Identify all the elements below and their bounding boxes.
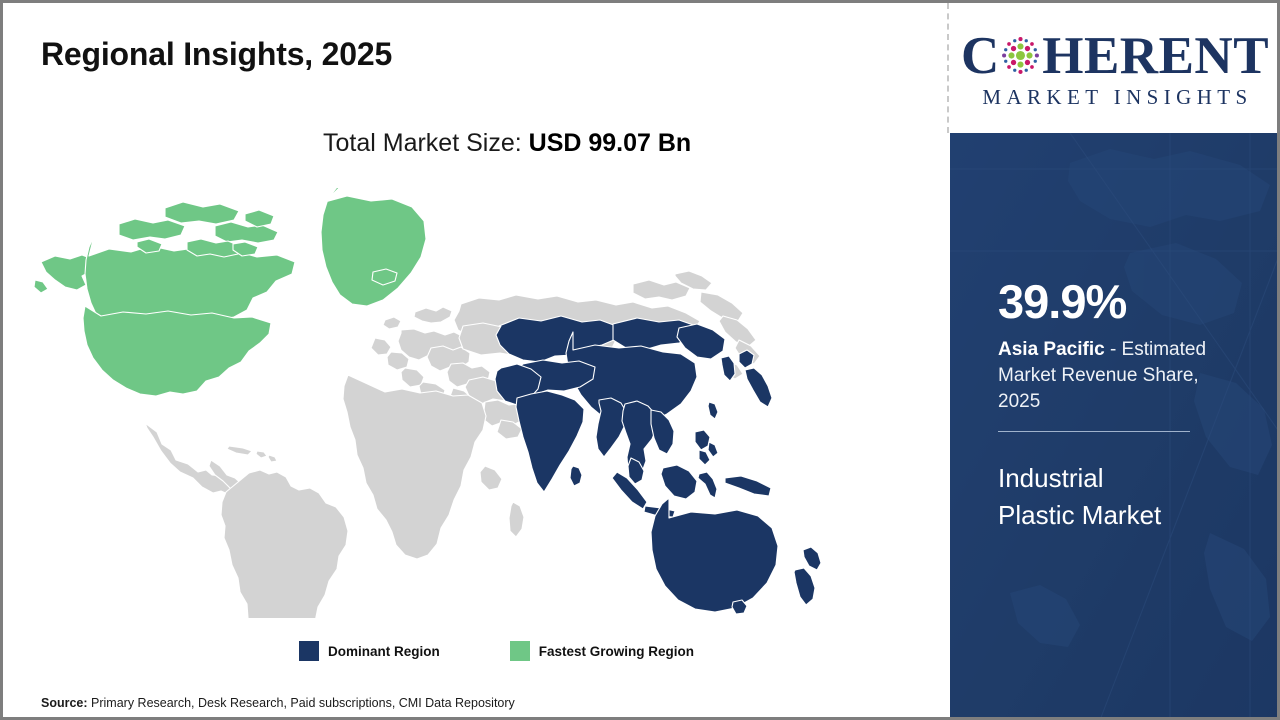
legend-item-fastest-growing: Fastest Growing Region: [510, 641, 694, 661]
total-market-size-value: USD 99.07 Bn: [529, 129, 692, 157]
logo-word-herent: HERENT: [1042, 30, 1269, 83]
source-label: Source:: [41, 696, 88, 710]
legend-label-fastest-growing: Fastest Growing Region: [539, 644, 694, 659]
legend-swatch-fastest-growing: [510, 641, 530, 661]
legend-item-dominant: Dominant Region: [299, 641, 440, 661]
stat-description: Asia Pacific - Estimated Market Revenue …: [998, 337, 1230, 416]
stat-percent: 39.9%: [998, 278, 1260, 325]
logo-wordmark: C: [961, 30, 1269, 83]
map-legend: Dominant Region Fastest Growing Region: [299, 641, 694, 661]
stat-region: Asia Pacific: [998, 339, 1105, 360]
map-region-fastest-growing: [34, 188, 426, 396]
logo-tagline: MARKET INSIGHTS: [977, 85, 1252, 110]
brand-logo: C: [950, 6, 1280, 133]
total-market-size-label: Total Market Size:: [323, 129, 529, 157]
world-map: [33, 188, 843, 618]
market-name: Industrial Plastic Market: [998, 460, 1260, 534]
world-map-svg: [33, 188, 843, 618]
panel-divider: [947, 3, 949, 133]
source-note: Source: Primary Research, Desk Research,…: [41, 696, 515, 710]
total-market-size: Total Market Size: USD 99.07 Bn: [323, 129, 691, 158]
legend-swatch-dominant: [299, 641, 319, 661]
logo-letter-c: C: [961, 30, 999, 83]
map-panel: Regional Insights, 2025 Total Market Siz…: [3, 3, 948, 717]
source-text: Primary Research, Desk Research, Paid su…: [88, 696, 515, 710]
legend-label-dominant: Dominant Region: [328, 644, 440, 659]
slide-root: Regional Insights, 2025 Total Market Siz…: [0, 0, 1280, 720]
sidebar-divider-rule: [998, 431, 1190, 432]
map-region-dominant: [495, 316, 821, 614]
sidebar-content: 39.9% Asia Pacific - Estimated Market Re…: [998, 133, 1260, 533]
page-title: Regional Insights, 2025: [41, 36, 392, 73]
globe-dots-icon: [1000, 35, 1041, 76]
stat-sidebar: 39.9% Asia Pacific - Estimated Market Re…: [950, 133, 1280, 720]
